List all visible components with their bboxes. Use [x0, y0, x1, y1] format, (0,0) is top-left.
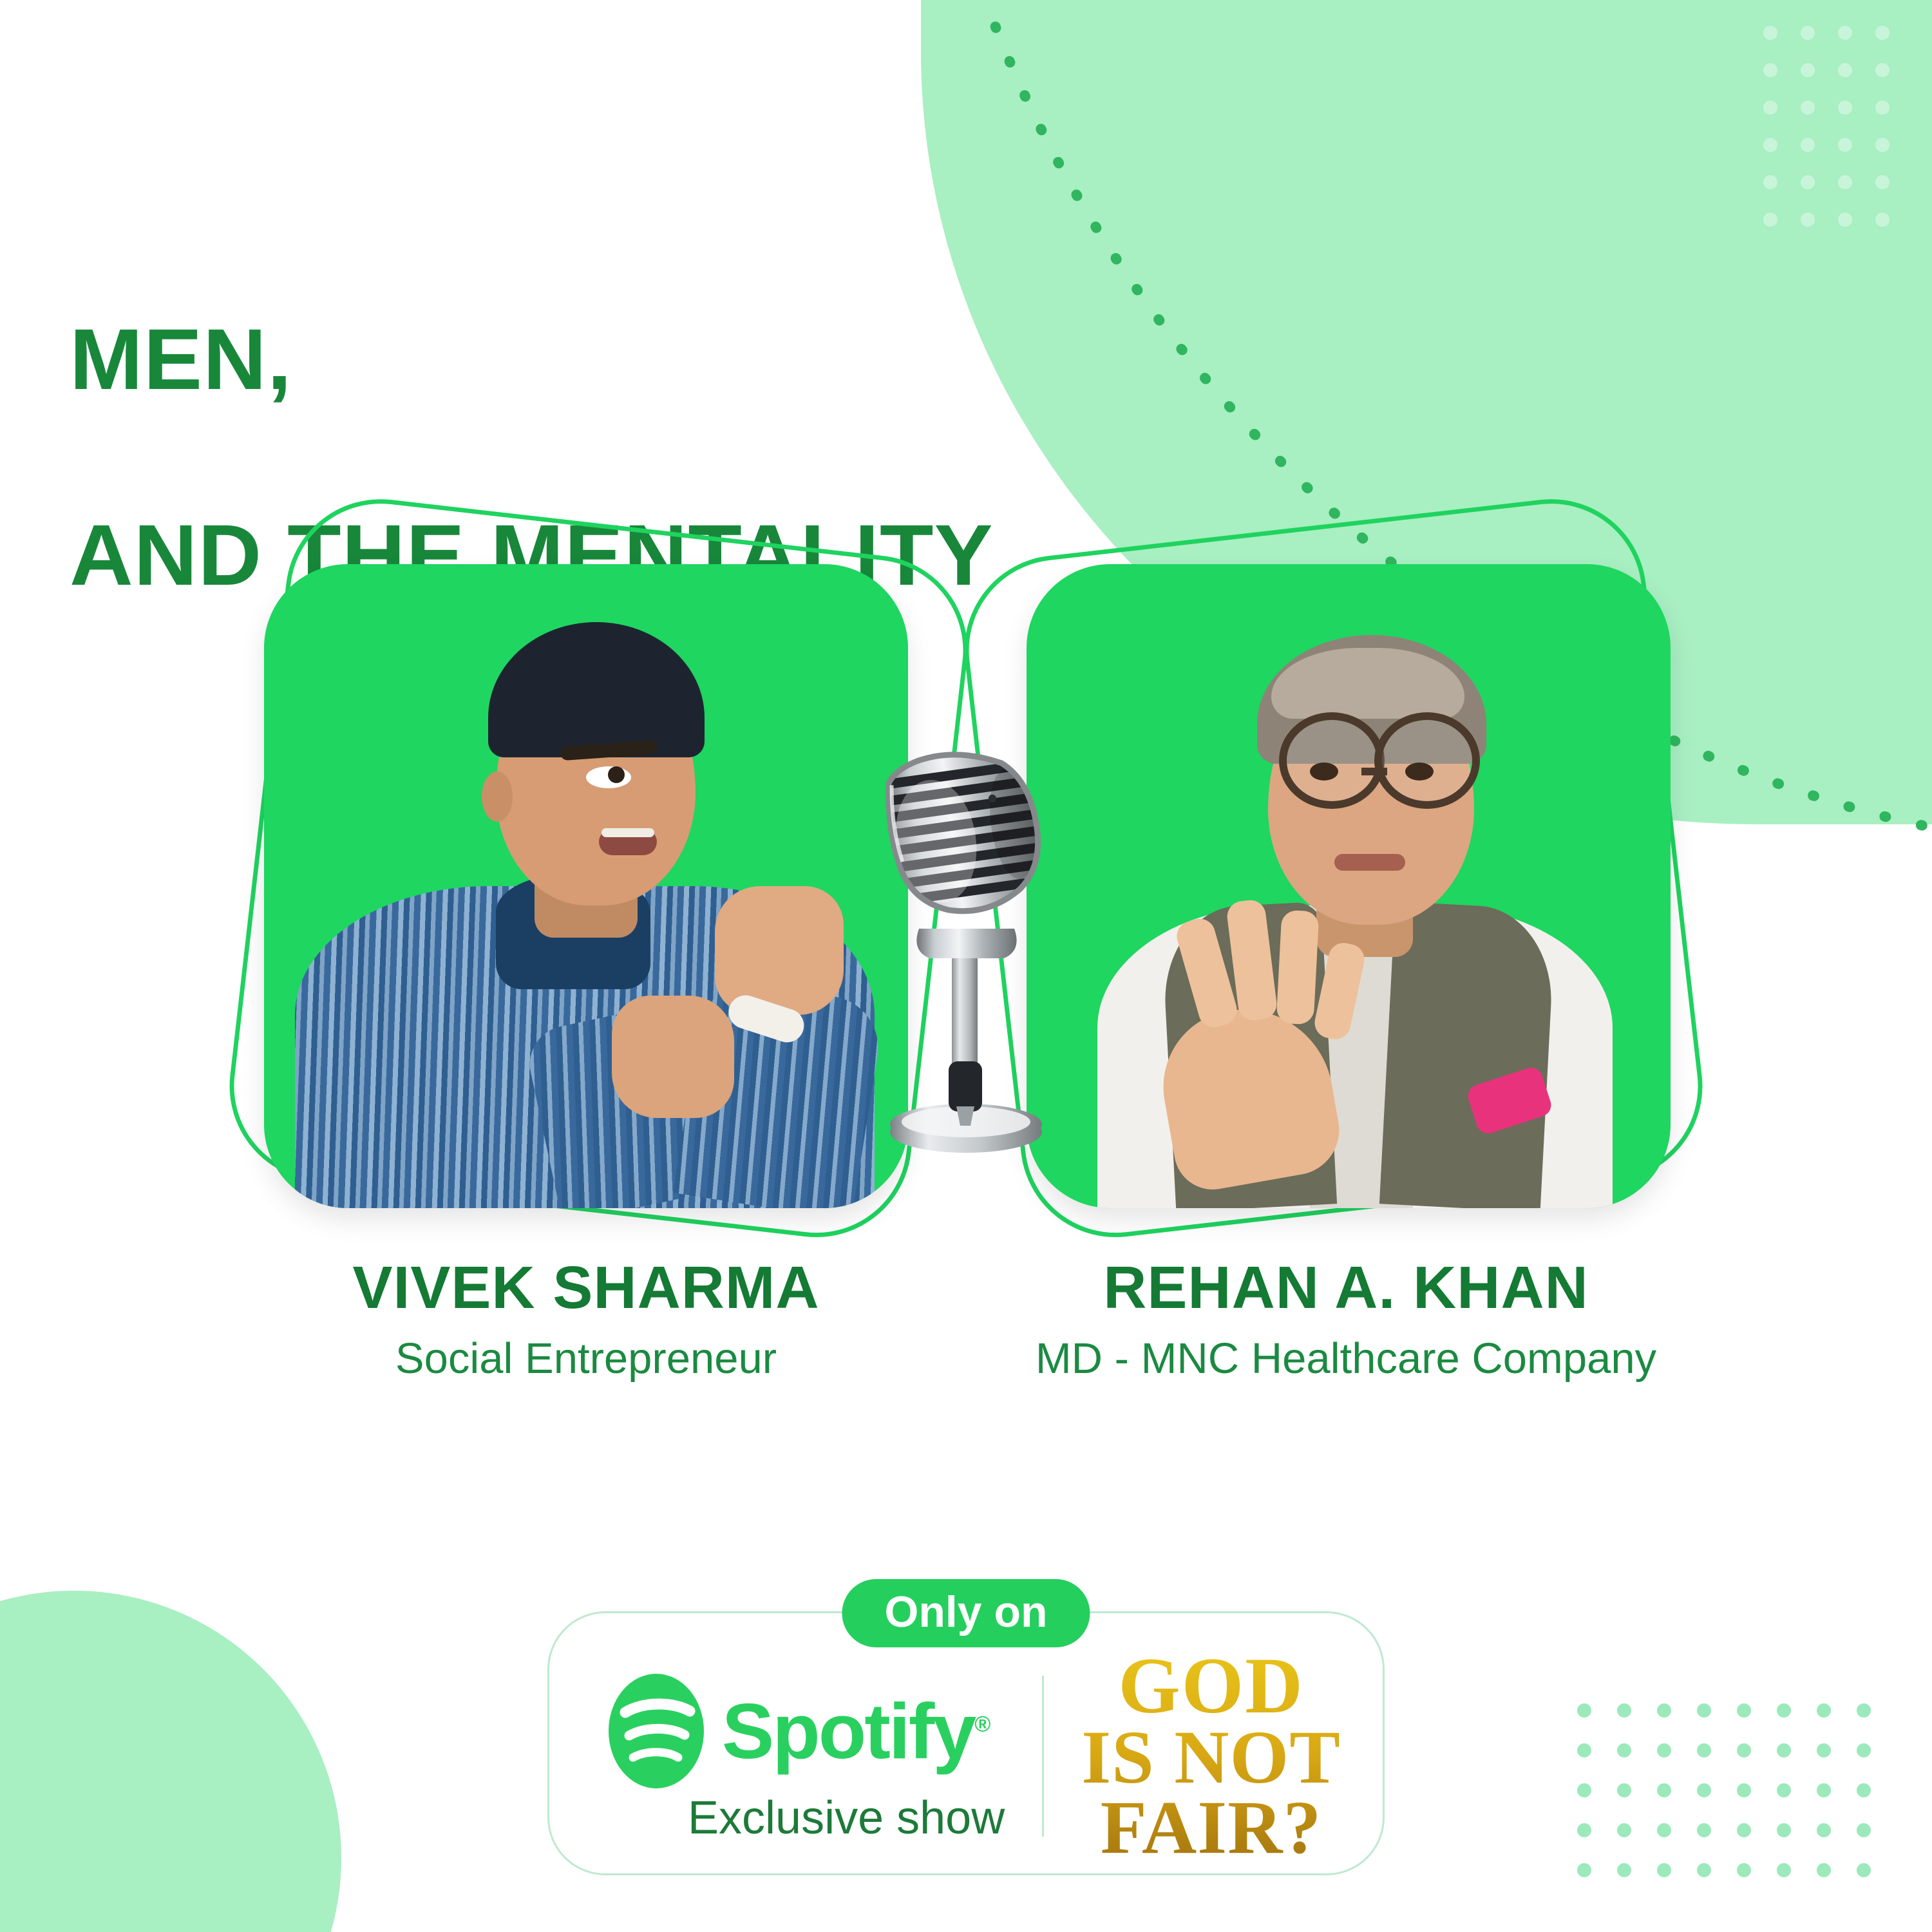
decorative-dot	[1617, 1743, 1631, 1757]
decorative-dot	[1838, 175, 1852, 189]
decorative-dot	[1777, 1743, 1791, 1757]
decorative-dot	[1857, 1783, 1871, 1797]
decorative-dot	[1657, 1783, 1671, 1797]
decorative-dot	[1697, 1823, 1711, 1837]
decorative-dot	[1657, 1703, 1671, 1718]
decorative-dot	[1697, 1743, 1711, 1757]
decorative-dot	[1838, 100, 1852, 115]
person-illustration-rehan	[1027, 564, 1671, 1208]
show-title-line-2: IS NOT	[1081, 1723, 1341, 1793]
decorative-dot	[1801, 213, 1815, 227]
decorative-dot	[1737, 1863, 1751, 1877]
decorative-dot	[1577, 1743, 1591, 1757]
decorative-dot	[1763, 138, 1777, 152]
decorative-dot	[1801, 138, 1815, 152]
spotify-wordmark: Spotify®	[722, 1695, 989, 1767]
show-title-line-3: FAIR?	[1081, 1793, 1341, 1863]
bottom-right-dot-grid	[1577, 1703, 1897, 1903]
decorative-dot	[1763, 26, 1777, 40]
decorative-dot	[1875, 138, 1889, 152]
decorative-dot	[1577, 1863, 1591, 1877]
decorative-dot	[1817, 1743, 1831, 1757]
decorative-dot	[1577, 1703, 1591, 1718]
decorative-dot	[1617, 1863, 1631, 1877]
decorative-dot	[1763, 63, 1777, 77]
decorative-dot	[1857, 1743, 1871, 1757]
decorative-dot	[1838, 26, 1852, 40]
registered-mark-icon: ®	[974, 1712, 989, 1736]
decorative-dot	[1657, 1823, 1671, 1837]
decorative-dot	[1763, 213, 1777, 227]
decorative-dot	[1737, 1783, 1751, 1797]
person-illustration-vivek	[264, 564, 908, 1208]
guest-photo-wrap	[238, 528, 934, 1224]
podcast-episode-poster: MEN, AND THE MENTALITY	[0, 0, 1932, 1932]
spotify-icon	[607, 1671, 705, 1791]
spotify-logo-row: Spotify®	[607, 1671, 989, 1791]
decorative-dot	[1801, 100, 1815, 115]
headline-line-1: MEN,	[70, 317, 994, 403]
decorative-dot	[1875, 63, 1889, 77]
decorative-dot	[1801, 26, 1815, 40]
decorative-dot	[1838, 138, 1852, 152]
decorative-dot	[1875, 100, 1889, 115]
decorative-dot	[1577, 1823, 1591, 1837]
platform-badge[interactable]: Only on Spotify® Exclusive show	[547, 1611, 1385, 1875]
decorative-dot	[1857, 1823, 1871, 1837]
decorative-dot	[1697, 1863, 1711, 1877]
bottom-left-green-blob	[0, 1591, 341, 1932]
decorative-dot	[1697, 1783, 1711, 1797]
spotify-name: Spotify	[722, 1687, 974, 1775]
decorative-dot	[1763, 100, 1777, 115]
guest-photo	[264, 564, 908, 1208]
decorative-dot	[1737, 1823, 1751, 1837]
decorative-dot	[1617, 1823, 1631, 1837]
decorative-dot	[1801, 63, 1815, 77]
guest-photo	[1027, 564, 1671, 1208]
decorative-dot	[1817, 1703, 1831, 1718]
decorative-dot	[1875, 213, 1889, 227]
decorative-dot	[1763, 175, 1777, 189]
spotify-subtitle: Exclusive show	[688, 1795, 1005, 1841]
guest-name: VIVEK SHARMA	[352, 1253, 819, 1322]
guest-role: Social Entrepreneur	[395, 1334, 777, 1383]
decorative-dot	[1697, 1703, 1711, 1718]
show-title-line-1: GOD	[1081, 1649, 1341, 1723]
decorative-dot	[1838, 213, 1852, 227]
top-right-dot-grid	[1763, 26, 1913, 250]
decorative-dot	[1577, 1783, 1591, 1797]
decorative-dot	[1737, 1703, 1751, 1718]
decorative-dot	[1777, 1703, 1791, 1718]
decorative-dot	[1777, 1823, 1791, 1837]
decorative-dot	[1817, 1863, 1831, 1877]
decorative-dot	[1857, 1863, 1871, 1877]
decorative-dot	[1838, 63, 1852, 77]
guest-card-rehan-a-khan[interactable]: REHAN A. KHAN MD - MNC Healthcare Compan…	[966, 528, 1726, 1383]
guest-role: MD - MNC Healthcare Company	[1036, 1334, 1656, 1383]
bottom-left-dotted-arc	[0, 1507, 425, 1932]
show-title[interactable]: GOD IS NOT FAIR?	[1044, 1649, 1341, 1862]
decorative-dot	[1617, 1703, 1631, 1718]
decorative-dot	[1875, 175, 1889, 189]
decorative-dot	[1617, 1783, 1631, 1797]
decorative-dot	[1657, 1863, 1671, 1877]
decorative-dot	[1875, 26, 1889, 40]
decorative-dot	[1817, 1823, 1831, 1837]
vintage-microphone-icon	[860, 741, 1072, 1179]
decorative-dot	[1817, 1783, 1831, 1797]
badge-content: Spotify® Exclusive show GOD IS NOT FAIR?	[547, 1611, 1385, 1875]
decorative-dot	[1857, 1703, 1871, 1718]
decorative-dot	[1737, 1743, 1751, 1757]
guest-photo-wrap	[998, 528, 1694, 1224]
decorative-dot	[1657, 1743, 1671, 1757]
decorative-dot	[1777, 1783, 1791, 1797]
guest-name: REHAN A. KHAN	[1103, 1253, 1589, 1322]
decorative-dot	[1777, 1863, 1791, 1877]
guest-card-vivek-sharma[interactable]: VIVEK SHARMA Social Entrepreneur	[206, 528, 966, 1383]
decorative-dot	[1801, 175, 1815, 189]
spotify-block[interactable]: Spotify® Exclusive show	[591, 1671, 1042, 1841]
